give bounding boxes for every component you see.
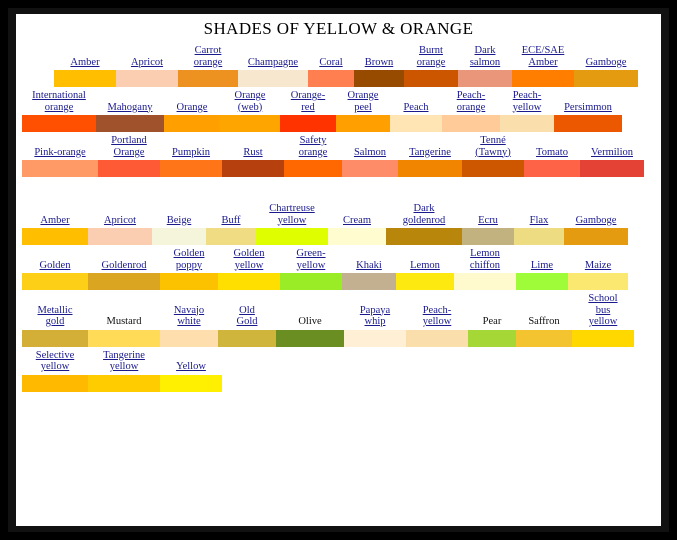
color-name-line: Orange [114,147,145,158]
color-name-line: Orange- [291,90,325,101]
color-section-yellow-section: AmberApricotBeigeBuffChartreuseyellowCre… [16,203,661,392]
color-section-orange-section: AmberApricotCarrotorangeChampagneCoralBr… [16,45,661,177]
color-swatch-chip[interactable] [354,70,404,87]
color-swatch-label[interactable]: Salmon [342,147,398,160]
color-swatch-label[interactable]: Papayawhip [344,305,406,329]
color-swatch-chip[interactable] [160,330,218,347]
color-swatch-chip[interactable] [96,115,164,132]
color-swatch-cell[interactable]: Beige [152,215,206,246]
color-swatch-label[interactable]: PortlandOrange [98,135,160,159]
color-swatch-cell[interactable]: Darksalmon [458,45,512,87]
color-swatch-label[interactable]: Brown [354,57,404,70]
color-swatch-cell[interactable]: Pink-orange [22,147,98,178]
color-name-line: Peach- [513,90,542,101]
page-title: SHADES OF YELLOW & ORANGE [16,19,661,39]
color-name-line: yellow [423,316,452,327]
color-name-line: Amber [528,57,557,68]
color-swatch-label[interactable]: Beige [152,215,206,228]
color-row: AmberApricotCarrotorangeChampagneCoralBr… [16,45,661,87]
color-swatch-cell[interactable]: Goldenyellow [218,248,280,290]
color-swatch-cell[interactable]: Pumpkin [160,147,222,178]
color-swatch-cell[interactable]: Navajowhite [160,305,218,347]
color-swatch-cell[interactable]: Peach-yellow [500,90,554,132]
color-swatch-chip[interactable] [22,375,88,392]
color-swatch-chip[interactable] [220,115,280,132]
color-name-line: Lemon [470,248,500,259]
color-swatch-cell[interactable]: Gamboge [564,215,628,246]
color-name-line: Persimmon [564,102,612,113]
color-swatch-cell[interactable]: Champagne [238,57,308,88]
color-row: GoldenGoldenrodGoldenpoppyGoldenyellowGr… [16,248,661,290]
color-name-line: Gold [237,316,258,327]
color-swatch-cell[interactable]: Coral [308,57,354,88]
color-swatch-cell[interactable]: Lemonchiffon [454,248,516,290]
color-name-line: Maize [585,260,611,271]
color-swatch-cell[interactable]: Green-yellow [280,248,342,290]
color-swatch-cell[interactable]: OldGold [218,305,276,347]
color-name-line: Vermilion [591,147,633,158]
color-name-line: Khaki [356,260,382,271]
color-name-line: Old [239,305,255,316]
color-chart-page: SHADES OF YELLOW & ORANGE AmberApricotCa… [16,14,661,526]
color-swatch-cell[interactable]: Burntorange [404,45,458,87]
color-name-line: Gamboge [586,57,627,68]
color-name-line: Lemon [410,260,440,271]
color-swatch-label[interactable]: Mahogany [96,102,164,115]
color-swatch-chip[interactable] [256,228,328,245]
color-row: MetallicgoldMustardNavajowhiteOldGoldOli… [16,293,661,347]
color-swatch-chip[interactable] [206,228,256,245]
color-swatch-chip[interactable] [218,330,276,347]
color-swatch-label[interactable]: Rust [222,147,284,160]
color-name-line: yellow [235,260,264,271]
color-name-line: Metallic [38,305,73,316]
color-swatch-label[interactable]: Coral [308,57,354,70]
color-name-line: Goldenrod [102,260,147,271]
color-name-line: Green- [296,248,325,259]
color-swatch-chip[interactable] [328,228,386,245]
color-swatch-cell[interactable]: Tangerineyellow [88,350,160,392]
color-name-line: yellow [297,260,326,271]
color-name-line: bus [596,305,611,316]
color-swatch-chip[interactable] [516,273,568,290]
color-name-line: ECE/SAE [522,45,565,56]
color-swatch-chip[interactable] [88,228,152,245]
color-swatch-chip[interactable] [218,273,280,290]
color-swatch-cell[interactable]: Papayawhip [344,305,406,347]
color-swatch-chip[interactable] [574,70,638,87]
color-swatch-cell[interactable]: Pear [468,316,516,347]
color-name-line: yellow [513,102,542,113]
color-swatch-label[interactable]: Tangerineyellow [88,350,160,374]
color-swatch-cell[interactable]: Brown [354,57,404,88]
color-swatch-cell[interactable]: Tangerine [398,147,462,178]
color-name-line: Selective [36,350,74,361]
color-swatch-label[interactable]: Burntorange [404,45,458,69]
color-swatch-label[interactable]: Navajowhite [160,305,218,329]
color-swatch-chip[interactable] [386,228,462,245]
color-name-line: Ecru [478,215,498,226]
color-name-line: gold [46,316,65,327]
color-swatch-cell[interactable]: Goldenpoppy [160,248,218,290]
color-swatch-chip[interactable] [276,330,344,347]
color-swatch-chip[interactable] [336,115,390,132]
color-swatch-chip[interactable] [500,115,554,132]
color-name-line: Burnt [419,45,443,56]
color-swatch-cell[interactable]: Vermilion [580,147,644,178]
color-name-line: goldenrod [403,215,446,226]
color-swatch-cell[interactable]: Orange-red [280,90,336,132]
color-swatch-label[interactable]: Ecru [462,215,514,228]
color-swatch-chip[interactable] [160,160,222,177]
color-swatch-label[interactable]: Vermilion [580,147,644,160]
color-name-line: Pink-orange [34,147,85,158]
color-name-line: yellow [589,316,618,327]
color-name-line: Amber [40,215,69,226]
color-swatch-chip[interactable] [22,330,88,347]
color-name-line: Dark [475,45,496,56]
color-name-line: Orange [235,90,266,101]
color-name-line: Brown [365,57,394,68]
color-swatch-chip[interactable] [454,273,516,290]
color-swatch-chip[interactable] [468,330,516,347]
color-swatch-label[interactable]: Olive [276,316,344,329]
color-name-line: yellow [41,361,70,372]
color-swatch-label[interactable]: Peach [390,102,442,115]
color-name-line: Tangerine [409,147,451,158]
color-name-line: Coral [319,57,342,68]
color-swatch-label[interactable]: Peach-orange [442,90,500,114]
color-swatch-label[interactable]: Saffron [516,316,572,329]
color-name-line: Mahogany [108,102,153,113]
color-swatch-chip[interactable] [342,160,398,177]
color-swatch-chip[interactable] [406,330,468,347]
color-swatch-label[interactable]: Peach-yellow [406,305,468,329]
color-swatch-chip[interactable] [280,273,342,290]
color-swatch-cell[interactable]: Yellow [160,361,222,392]
color-swatch-cell[interactable]: Khaki [342,260,396,291]
color-swatch-chip[interactable] [222,160,284,177]
color-swatch-cell[interactable]: Maize [568,260,628,291]
color-swatch-cell[interactable]: Lime [516,260,568,291]
color-swatch-chip[interactable] [572,330,634,347]
color-swatch-chip[interactable] [564,228,628,245]
color-swatch-chip[interactable] [280,115,336,132]
color-swatch-chip[interactable] [442,115,500,132]
color-swatch-chip[interactable] [568,273,628,290]
color-swatch-cell[interactable]: Peach-orange [442,90,500,132]
color-swatch-cell[interactable]: Orange [164,102,220,133]
color-name-line: Lime [531,260,553,271]
color-swatch-cell[interactable]: Saffron [516,316,572,347]
color-row: InternationalorangeMahoganyOrangeOrange(… [16,90,661,132]
color-name-line: Golden [40,260,71,271]
color-swatch-cell[interactable]: Darkgoldenrod [386,203,462,245]
color-name-line: whip [365,316,386,327]
color-swatch-label[interactable]: Lemonchiffon [454,248,516,272]
color-swatch-chip[interactable] [284,160,342,177]
color-name-line: Pear [483,316,502,327]
color-name-line: Golden [234,248,265,259]
color-name-line: Buff [221,215,240,226]
color-swatch-cell[interactable]: Amber [54,57,116,88]
color-swatch-label[interactable]: Gamboge [564,215,628,228]
color-swatch-chip[interactable] [116,70,178,87]
color-swatch-label[interactable]: Darksalmon [458,45,512,69]
color-name-line: Tangerine [103,350,145,361]
color-swatch-label[interactable]: Apricot [88,215,152,228]
color-swatch-label[interactable]: Peach-yellow [500,90,554,114]
color-swatch-label[interactable]: Champagne [238,57,308,70]
color-swatch-chip[interactable] [458,70,512,87]
color-swatch-chip[interactable] [308,70,354,87]
color-swatch-label[interactable]: Goldenyellow [218,248,280,272]
color-swatch-label[interactable]: Green-yellow [280,248,342,272]
color-name-line: Navajo [174,305,204,316]
color-name-line: orange [417,57,446,68]
color-name-line: peel [354,102,372,113]
color-name-line: Tomato [536,147,568,158]
color-swatch-chip[interactable] [462,228,514,245]
color-swatch-chip[interactable] [22,228,88,245]
color-swatch-cell[interactable]: Schoolbusyellow [572,293,634,347]
color-swatch-label[interactable]: Persimmon [554,102,622,115]
color-swatch-label[interactable]: Gamboge [574,57,638,70]
color-name-line: School [588,293,617,304]
color-swatch-label[interactable]: Buff [206,215,256,228]
color-swatch-cell[interactable]: Chartreuseyellow [256,203,328,245]
color-swatch-label[interactable]: Internationalorange [22,90,96,114]
color-swatch-chip[interactable] [98,160,160,177]
color-name-line: orange [194,57,223,68]
color-swatch-label[interactable]: Metallicgold [22,305,88,329]
color-swatch-chip[interactable] [88,330,160,347]
color-swatch-label[interactable]: Tomato [524,147,580,160]
color-swatch-label[interactable]: Orange [164,102,220,115]
color-swatch-label[interactable]: Goldenpoppy [160,248,218,272]
color-name-line: Gamboge [576,215,617,226]
color-swatch-label[interactable]: Cream [328,215,386,228]
color-swatch-label[interactable]: Mustard [88,316,160,329]
color-swatch-chip[interactable] [554,115,622,132]
color-swatch-label[interactable]: Pumpkin [160,147,222,160]
color-swatch-label[interactable]: Orange-red [280,90,336,114]
color-swatch-cell[interactable]: Gamboge [574,57,638,88]
color-name-line: yellow [110,361,139,372]
color-swatch-cell[interactable]: Tenné(Tawny) [462,135,524,177]
color-swatch-cell[interactable]: Flax [514,215,564,246]
color-swatch-cell[interactable]: Orangepeel [336,90,390,132]
color-swatch-label[interactable]: Lime [516,260,568,273]
color-name-line: Papaya [360,305,390,316]
color-name-line: International [32,90,86,101]
color-name-line: Apricot [104,215,136,226]
color-name-line: white [177,316,200,327]
color-name-line: Saffron [528,316,559,327]
color-name-line: Peach- [457,90,486,101]
color-swatch-chip[interactable] [22,273,88,290]
color-swatch-chip[interactable] [462,160,524,177]
color-swatch-label[interactable]: Maize [568,260,628,273]
color-swatch-chip[interactable] [22,160,98,177]
color-name-line: (web) [238,102,263,113]
color-swatch-cell[interactable]: Rust [222,147,284,178]
color-swatch-chip[interactable] [152,228,206,245]
color-swatch-label[interactable]: Tenné(Tawny) [462,135,524,159]
color-name-line: Orange [348,90,379,101]
color-swatch-chip[interactable] [404,70,458,87]
color-swatch-label[interactable]: Lemon [396,260,454,273]
color-swatch-cell[interactable]: Apricot [88,215,152,246]
color-swatch-cell[interactable]: Orange(web) [220,90,280,132]
color-swatch-chip[interactable] [88,273,160,290]
color-name-line: Flax [530,215,549,226]
color-name-line: Salmon [354,147,386,158]
color-swatch-label[interactable]: Khaki [342,260,396,273]
color-swatch-label[interactable]: Flax [514,215,564,228]
color-swatch-label[interactable]: Golden [22,260,88,273]
color-swatch-label[interactable]: Apricot [116,57,178,70]
color-name-line: Chartreuse [269,203,314,214]
color-swatch-label[interactable]: Yellow [160,361,222,374]
color-swatch-cell[interactable]: Mustard [88,316,160,347]
color-swatch-cell[interactable]: Salmon [342,147,398,178]
color-swatch-label[interactable]: Orange(web) [220,90,280,114]
color-swatch-label[interactable]: Darkgoldenrod [386,203,462,227]
color-name-line: orange [457,102,486,113]
color-swatch-cell[interactable]: Selectiveyellow [22,350,88,392]
color-swatch-label[interactable]: Carrotorange [178,45,238,69]
color-name-line: Yellow [176,361,206,372]
color-swatch-label[interactable]: Chartreuseyellow [256,203,328,227]
color-swatch-cell[interactable]: Apricot [116,57,178,88]
color-swatch-label[interactable]: Pear [468,316,516,329]
color-name-line: Cream [343,215,371,226]
color-name-line: orange [299,147,328,158]
color-row: Pink-orangePortlandOrangePumpkinRustSafe… [16,135,661,177]
color-swatch-label[interactable]: Pink-orange [22,147,98,160]
color-name-line: Apricot [131,57,163,68]
color-swatch-cell[interactable]: Cream [328,215,386,246]
color-row: AmberApricotBeigeBuffChartreuseyellowCre… [16,203,661,245]
color-name-line: (Tawny) [475,147,510,158]
color-name-line: Carrot [195,45,222,56]
color-swatch-cell[interactable]: Ecru [462,215,514,246]
color-swatch-chip[interactable] [512,70,574,87]
color-name-line: orange [45,102,74,113]
color-swatch-chip[interactable] [342,273,396,290]
color-swatch-cell[interactable]: Persimmon [554,102,622,133]
color-swatch-cell[interactable]: Carrotorange [178,45,238,87]
color-name-line: Peach [403,102,428,113]
color-name-line: Mustard [107,316,142,327]
color-swatch-cell[interactable]: Amber [22,215,88,246]
color-swatch-cell[interactable]: Internationalorange [22,90,96,132]
color-name-line: Olive [298,316,321,327]
color-swatch-label[interactable]: ECE/SAEAmber [512,45,574,69]
color-swatch-cell[interactable]: Olive [276,316,344,347]
color-swatch-label[interactable]: Safetyorange [284,135,342,159]
color-swatch-cell[interactable]: ECE/SAEAmber [512,45,574,87]
color-name-line: Safety [300,135,327,146]
color-swatch-cell[interactable]: Tomato [524,147,580,178]
color-swatch-cell[interactable]: PortlandOrange [98,135,160,177]
color-swatch-label[interactable]: OldGold [218,305,276,329]
color-swatch-chip[interactable] [390,115,442,132]
sections-container: AmberApricotCarrotorangeChampagneCoralBr… [16,45,661,392]
color-swatch-cell[interactable]: Metallicgold [22,305,88,347]
color-name-line: Amber [70,57,99,68]
color-swatch-chip[interactable] [178,70,238,87]
color-swatch-cell[interactable]: Mahogany [96,102,164,133]
color-swatch-chip[interactable] [516,330,572,347]
color-name-line: Golden [174,248,205,259]
color-name-line: Orange [177,102,208,113]
color-swatch-chip[interactable] [22,115,96,132]
color-swatch-chip[interactable] [54,70,116,87]
color-swatch-cell[interactable]: Peach-yellow [406,305,468,347]
color-swatch-chip[interactable] [160,375,222,392]
color-swatch-label[interactable]: Amber [54,57,116,70]
color-name-line: Tenné [480,135,506,146]
color-swatch-chip[interactable] [160,273,218,290]
color-swatch-chip[interactable] [344,330,406,347]
color-swatch-chip[interactable] [524,160,580,177]
color-swatch-chip[interactable] [88,375,160,392]
color-swatch-label[interactable]: Orangepeel [336,90,390,114]
color-swatch-cell[interactable]: Golden [22,260,88,291]
color-swatch-cell[interactable]: Lemon [396,260,454,291]
color-swatch-cell[interactable]: Buff [206,215,256,246]
color-name-line: Beige [167,215,192,226]
color-name-line: red [301,102,314,113]
color-swatch-cell[interactable]: Goldenrod [88,260,160,291]
picture-frame: SHADES OF YELLOW & ORANGE AmberApricotCa… [0,0,677,540]
color-swatch-label[interactable]: Amber [22,215,88,228]
color-name-line: Peach- [423,305,452,316]
color-row: SelectiveyellowTangerineyellowYellow [16,350,661,392]
color-name-line: yellow [278,215,307,226]
color-swatch-chip[interactable] [164,115,220,132]
color-name-line: Pumpkin [172,147,210,158]
color-swatch-chip[interactable] [396,273,454,290]
color-swatch-label[interactable]: Schoolbusyellow [572,293,634,329]
color-name-line: Dark [414,203,435,214]
color-swatch-chip[interactable] [238,70,308,87]
color-swatch-chip[interactable] [514,228,564,245]
color-swatch-label[interactable]: Tangerine [398,147,462,160]
color-swatch-label[interactable]: Goldenrod [88,260,160,273]
color-name-line: salmon [470,57,500,68]
color-swatch-cell[interactable]: Peach [390,102,442,133]
color-swatch-cell[interactable]: Safetyorange [284,135,342,177]
color-name-line: Rust [243,147,262,158]
color-swatch-chip[interactable] [580,160,644,177]
color-name-line: chiffon [470,260,500,271]
color-swatch-label[interactable]: Selectiveyellow [22,350,88,374]
color-name-line: poppy [176,260,202,271]
color-name-line: Portland [111,135,147,146]
color-name-line: Champagne [248,57,298,68]
color-swatch-chip[interactable] [398,160,462,177]
